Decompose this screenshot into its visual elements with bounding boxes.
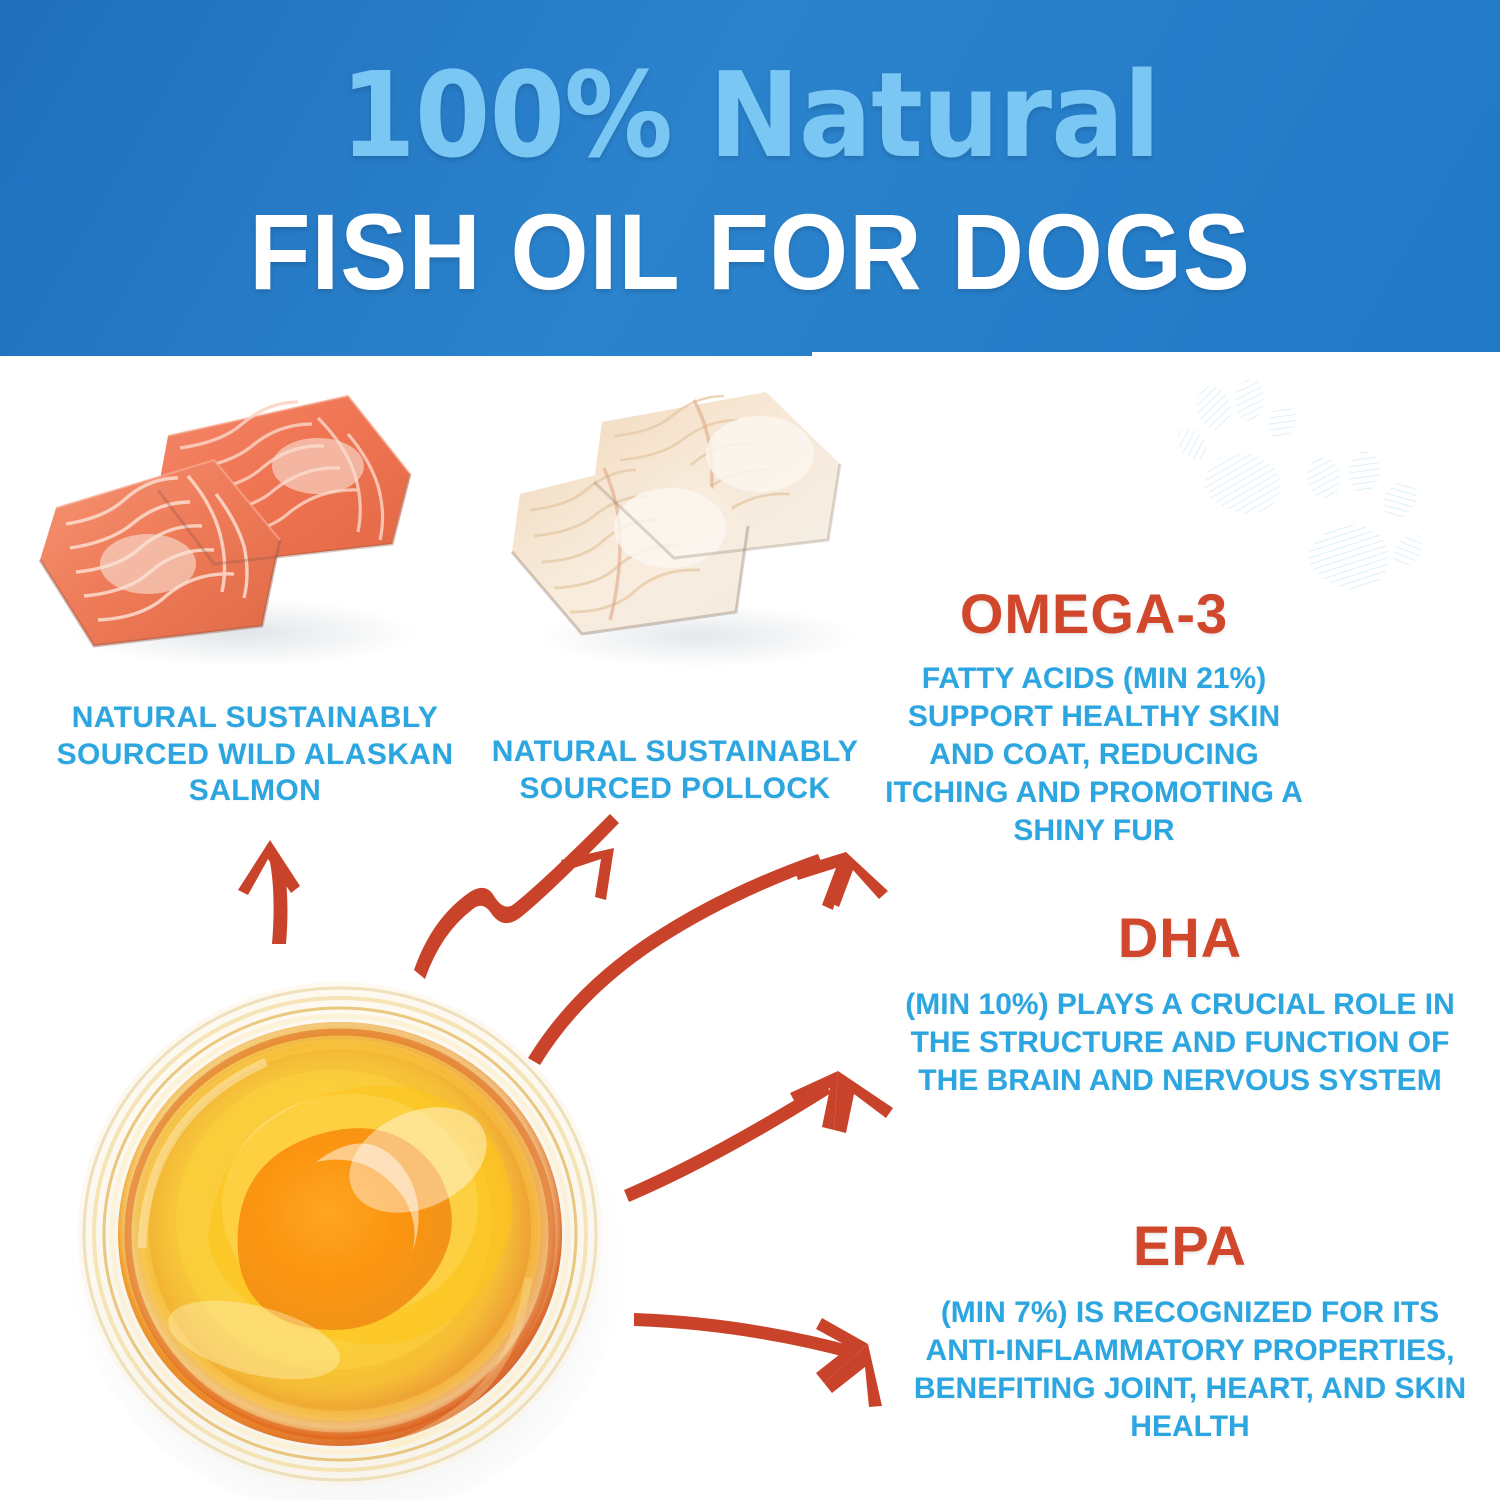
benefit-epa: EPA (MIN 7%) IS RECOGNIZED FOR ITS ANTI-… xyxy=(900,1218,1480,1446)
benefit-omega3-body: FATTY ACIDS (MIN 21%) SUPPORT HEALTHY SK… xyxy=(884,660,1304,850)
salmon-fillets-photo xyxy=(18,378,458,678)
header-banner: 100% Natural FISH OIL FOR DOGS xyxy=(0,0,1500,356)
arrow-to-salmon xyxy=(238,840,300,944)
arrow-to-dha xyxy=(634,1313,882,1407)
header-title-secondary: FISH OIL FOR DOGS xyxy=(53,198,1448,306)
paw-print-icon xyxy=(1178,378,1308,528)
paw-print-icon xyxy=(1296,442,1436,602)
pollock-fillets-photo xyxy=(498,378,898,678)
benefit-omega3-title: OMEGA-3 xyxy=(884,586,1304,642)
benefit-dha-title: DHA xyxy=(880,910,1480,966)
benefit-epa-title: EPA xyxy=(900,1218,1480,1274)
arrow-to-epa-mid xyxy=(624,1071,893,1202)
infographic-poster: 100% Natural FISH OIL FOR DOGS xyxy=(0,0,1500,1500)
benefit-dha: DHA (MIN 10%) PLAYS A CRUCIAL ROLE IN TH… xyxy=(880,910,1480,1100)
benefit-epa-body: (MIN 7%) IS RECOGNIZED FOR ITS ANTI-INFL… xyxy=(900,1294,1480,1446)
caption-pollock: NATURAL SUSTAINABLY SOURCED POLLOCK xyxy=(475,734,875,807)
benefit-dha-body: (MIN 10%) PLAYS A CRUCIAL ROLE IN THE ST… xyxy=(880,986,1480,1100)
benefit-omega3: OMEGA-3 FATTY ACIDS (MIN 21%) SUPPORT HE… xyxy=(884,586,1304,850)
header-title-primary: 100% Natural xyxy=(60,56,1440,174)
fish-oil-bowl-photo xyxy=(58,948,628,1500)
caption-salmon: NATURAL SUSTAINABLY SOURCED WILD ALASKAN… xyxy=(45,700,465,810)
